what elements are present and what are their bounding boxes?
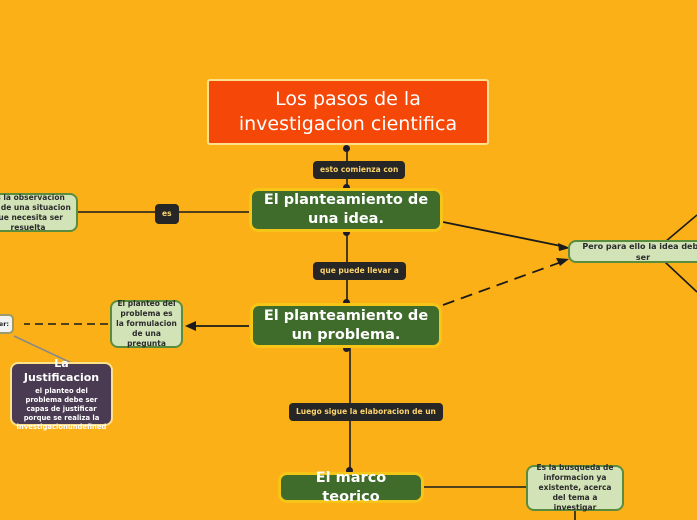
edge-label-es[interactable]: es [155,204,179,224]
edge-pero-branch-up [665,215,697,242]
node-idea-line2: una idea. [308,211,384,227]
node-justificacion-body: el planteo del problema debe ser capas d… [17,387,107,432]
edge-pero-branch-down [665,262,697,292]
node-observacion-situacion[interactable]: Es la observacion del de una situacion q… [0,193,78,232]
edge-label-luego-sigue[interactable]: Luego sigue la elaboracion de un [289,403,443,421]
node-marco-teorico[interactable]: El marco teorico [278,472,424,503]
node-title-line2: investigacion cientifica [239,113,457,135]
edge-idea-to-pero [443,222,566,247]
node-clipped-white-note[interactable]: er: [0,314,14,334]
edge-label-esto-comienza-con[interactable]: esto comienza con [313,161,405,179]
edge-label-que-puede-llevar-a[interactable]: que puede llevar a [313,262,406,280]
node-problema-line1: El planteamiento de [264,308,428,324]
node-problema-line2: un problema. [292,327,401,343]
node-busqueda-text: Es la busqueda de informacion ya existen… [532,463,618,513]
node-pero-para-ello-text: Pero para ello la idea debe ser [574,241,697,263]
node-planteamiento-idea[interactable]: El planteamiento de una idea. [249,188,443,232]
node-title-text: Los pasos de la investigacion cientifica [239,87,457,137]
node-idea-line1: El planteamiento de [264,192,428,208]
arrowhead-problema-to-planteo [185,321,196,331]
node-marco-teorico-text: El marco teorico [289,469,413,507]
node-pero-para-ello[interactable]: Pero para ello la idea debe ser [568,240,697,263]
node-planteo-formulacion-pregunta[interactable]: El planteo del problema es la formulacio… [110,300,183,348]
node-idea-text: El planteamiento de una idea. [264,191,428,229]
node-observacion-text: Es la observacion del de una situacion q… [0,193,72,233]
edge-problema-to-pero [443,261,564,305]
node-justificacion[interactable]: La Justificacion el planteo del problema… [10,362,113,426]
node-justificacion-title: La Justificacion [17,357,106,385]
node-planteo-text: El planteo del problema es la formulacio… [116,299,177,349]
node-title[interactable]: Los pasos de la investigacion cientifica [207,79,489,145]
arrowhead-problema-to-pero [556,258,569,266]
node-planteamiento-problema[interactable]: El planteamiento de un problema. [250,303,442,348]
node-busqueda-informacion[interactable]: Es la busqueda de informacion ya existen… [526,465,624,511]
mindmap-canvas[interactable]: Los pasos de la investigacion cientifica… [0,0,697,520]
node-title-line1: Los pasos de la [275,88,421,110]
node-problema-text: El planteamiento de un problema. [264,307,428,345]
connector-dot-title-bottom [343,145,350,152]
node-clipped-white-note-text: er: [0,320,9,328]
